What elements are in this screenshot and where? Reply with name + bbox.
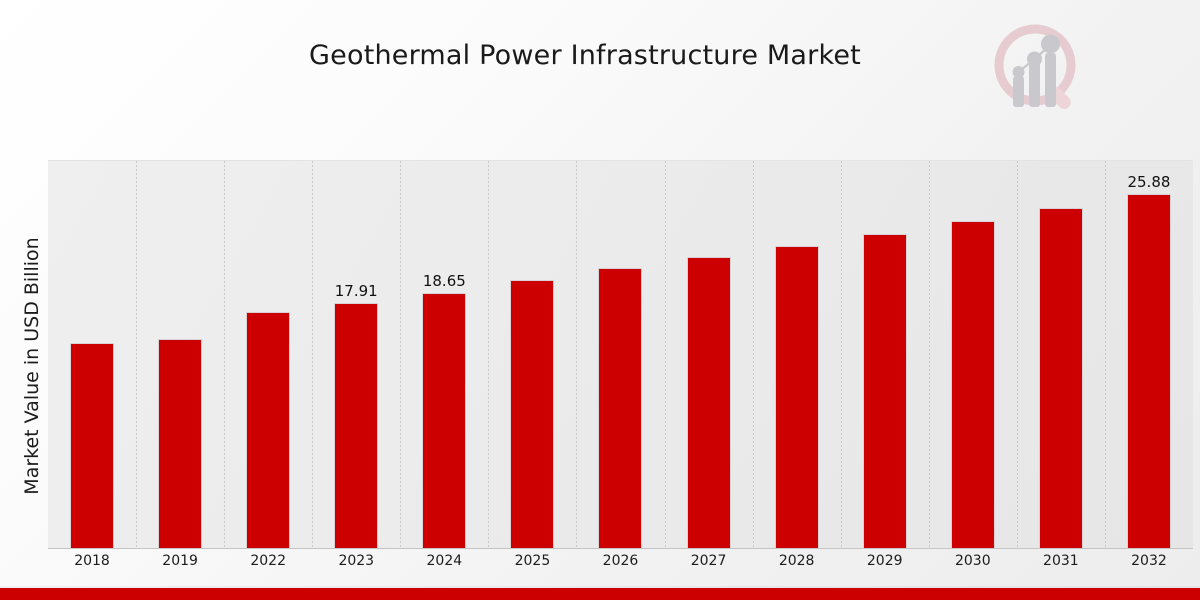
bar-2018[interactable]: [70, 343, 114, 548]
bar-group[interactable]: [576, 268, 664, 548]
plot-area: 17.9118.6525.88: [48, 160, 1193, 549]
bar-2029[interactable]: [863, 234, 907, 548]
bar-2025[interactable]: [510, 280, 554, 548]
footer-band: [0, 588, 1200, 600]
bar-2022[interactable]: [246, 312, 290, 548]
bar-group[interactable]: 17.91: [312, 284, 400, 548]
x-tick-label-2032: 2032: [1131, 553, 1167, 569]
bar-group[interactable]: 25.88: [1105, 175, 1193, 548]
bar-2026[interactable]: [598, 268, 642, 548]
bar-group[interactable]: 18.65: [400, 274, 488, 548]
bar-group[interactable]: [48, 343, 136, 548]
bar-value-label: 18.65: [423, 274, 466, 289]
x-axis: 2018201920222023202420252026202720282029…: [48, 551, 1193, 575]
bar-group[interactable]: [136, 339, 224, 548]
bar-2027[interactable]: [687, 257, 731, 548]
axis-baseline: [48, 548, 1193, 549]
x-tick-label-2024: 2024: [427, 553, 463, 569]
y-axis-label: Market Value in USD Billion: [21, 166, 43, 566]
bar-value-label: 17.91: [335, 284, 378, 299]
x-tick-label-2027: 2027: [691, 553, 727, 569]
bar-2031[interactable]: [1039, 208, 1083, 548]
x-tick-label-2031: 2031: [1043, 553, 1079, 569]
bar-2032[interactable]: [1127, 194, 1171, 548]
x-tick-label-2025: 2025: [515, 553, 551, 569]
chart-page: Geothermal Power Infrastructure Market M…: [0, 0, 1200, 600]
bar-group[interactable]: [929, 221, 1017, 548]
page-title: Geothermal Power Infrastructure Market: [0, 40, 1170, 71]
bar-group[interactable]: [841, 234, 929, 548]
bar-group[interactable]: [665, 257, 753, 548]
x-tick-label-2030: 2030: [955, 553, 991, 569]
x-tick-label-2029: 2029: [867, 553, 903, 569]
bar-2030[interactable]: [951, 221, 995, 548]
x-tick-label-2026: 2026: [603, 553, 639, 569]
x-tick-label-2018: 2018: [74, 553, 110, 569]
bar-2024[interactable]: [422, 293, 466, 548]
bar-2028[interactable]: [775, 246, 819, 548]
bar-group[interactable]: [753, 246, 841, 548]
bar-group[interactable]: [1017, 208, 1105, 548]
bar-group[interactable]: [224, 312, 312, 548]
bar-2023[interactable]: [334, 303, 378, 548]
bar-group[interactable]: [488, 280, 576, 548]
x-tick-label-2028: 2028: [779, 553, 815, 569]
bar-series: 17.9118.6525.88: [48, 161, 1193, 549]
bar-value-label: 25.88: [1127, 175, 1170, 190]
x-tick-label-2023: 2023: [338, 553, 374, 569]
x-tick-label-2019: 2019: [162, 553, 198, 569]
x-tick-label-2022: 2022: [250, 553, 286, 569]
bar-2019[interactable]: [158, 339, 202, 548]
